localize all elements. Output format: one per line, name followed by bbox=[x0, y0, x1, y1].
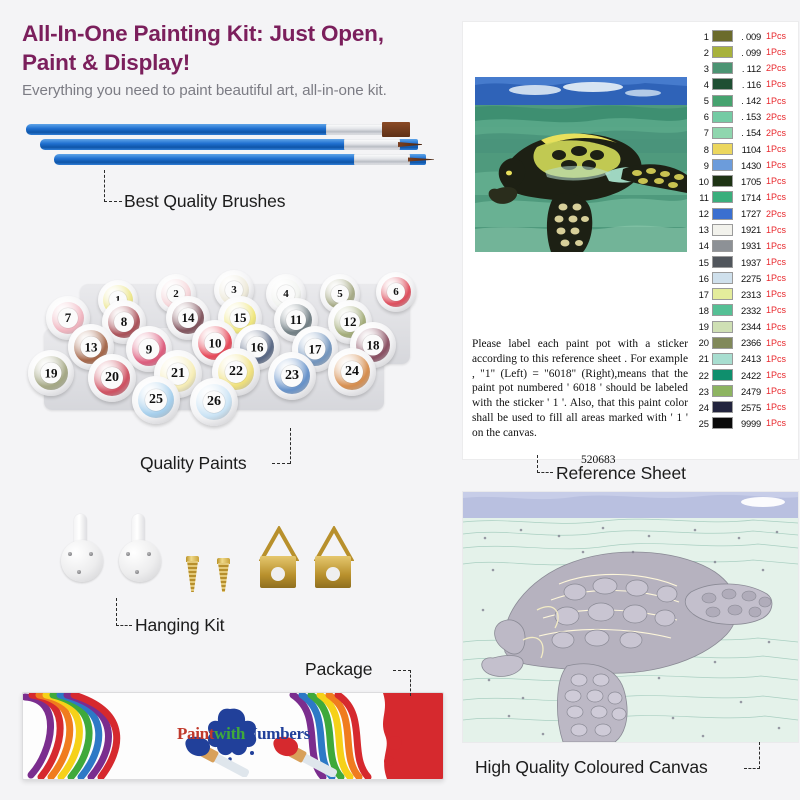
brushes-callout-leader-vertical bbox=[104, 170, 105, 202]
swatch-color-chip bbox=[712, 321, 733, 333]
color-swatch-row: 1017051Pcs bbox=[694, 173, 794, 189]
swatch-color-chip bbox=[712, 353, 733, 365]
brand-word-numbers: Numbers bbox=[245, 724, 310, 744]
color-swatch-row: 914301Pcs bbox=[694, 157, 794, 173]
swatch-code: 1921 bbox=[736, 224, 761, 235]
paint-pot: 24 bbox=[328, 348, 376, 396]
swatch-quantity: 1Pcs bbox=[766, 176, 786, 186]
hanging-callout-leader-horizontal bbox=[116, 625, 132, 626]
color-swatch-row: 1419311Pcs bbox=[694, 238, 794, 254]
brush-bristles-flat bbox=[382, 122, 410, 137]
swatch-code: 1104 bbox=[736, 144, 761, 155]
paint-pot-number: 26 bbox=[203, 391, 225, 413]
swatch-color-chip bbox=[712, 417, 733, 429]
paint-pot-number: 20 bbox=[101, 367, 123, 389]
paint-pot-number: 8 bbox=[114, 312, 134, 332]
swatch-quantity: 1Pcs bbox=[766, 144, 786, 154]
hook-disc bbox=[61, 540, 103, 582]
paints-callout-leader-vertical bbox=[290, 428, 291, 464]
swatch-quantity: 1Pcs bbox=[766, 47, 786, 57]
swatch-code: 1937 bbox=[736, 257, 761, 268]
paint-pot-number: 25 bbox=[145, 389, 167, 411]
swatch-code: . 153 bbox=[736, 111, 761, 122]
swatch-color-chip bbox=[712, 208, 733, 220]
swatch-code: 2413 bbox=[736, 353, 761, 364]
swatch-index: 14 bbox=[694, 240, 709, 251]
swatch-index: 25 bbox=[694, 418, 709, 429]
package-callout-leader-horizontal bbox=[393, 670, 411, 671]
swatch-color-chip bbox=[712, 337, 733, 349]
swatch-quantity: 1Pcs bbox=[766, 257, 786, 267]
swatch-color-chip bbox=[712, 224, 733, 236]
callout-hanging-kit: Hanging Kit bbox=[135, 615, 224, 636]
swatch-code: . 116 bbox=[736, 79, 761, 90]
swatch-index: 16 bbox=[694, 273, 709, 284]
swatch-color-chip bbox=[712, 143, 733, 155]
swatch-color-chip bbox=[712, 369, 733, 381]
color-swatch-row: 1519371Pcs bbox=[694, 254, 794, 270]
swatch-index: 24 bbox=[694, 402, 709, 413]
mounting-screw bbox=[186, 556, 199, 592]
brushes-group bbox=[18, 112, 448, 174]
coloured-canvas-card bbox=[463, 492, 798, 742]
d-ring-screw-hole bbox=[326, 567, 340, 581]
swatch-code: 1705 bbox=[736, 176, 761, 187]
swatch-index: 13 bbox=[694, 224, 709, 235]
callout-high-quality-canvas: High Quality Coloured Canvas bbox=[475, 757, 708, 778]
title-line-1: All-In-One Painting Kit: Just Open, bbox=[22, 21, 384, 46]
brushes-callout-leader-horizontal bbox=[104, 201, 122, 202]
swatch-index: 17 bbox=[694, 289, 709, 300]
swatch-code: . 112 bbox=[736, 63, 761, 74]
color-swatch-row: 1923441Pcs bbox=[694, 319, 794, 335]
color-swatch-row: 1823321Pcs bbox=[694, 302, 794, 318]
swatch-quantity: 1Pcs bbox=[766, 192, 786, 202]
swatch-color-chip bbox=[712, 127, 733, 139]
swatch-quantity: 1Pcs bbox=[766, 225, 786, 235]
reference-painting-image bbox=[475, 77, 687, 252]
swatch-quantity: 1Pcs bbox=[766, 338, 786, 348]
package-box: PaintwithNumbers bbox=[22, 692, 442, 778]
hook-nail-hole bbox=[89, 552, 93, 556]
wall-hook bbox=[61, 514, 103, 586]
swatch-color-chip bbox=[712, 385, 733, 397]
hook-disc bbox=[119, 540, 161, 582]
hanging-kit-group bbox=[55, 508, 355, 598]
sea-turtle-reference-art bbox=[475, 77, 687, 252]
brush-ferrule bbox=[326, 124, 384, 135]
paint-pot-number: 23 bbox=[281, 365, 303, 387]
swatch-code: 2313 bbox=[736, 289, 761, 300]
swatch-index: 22 bbox=[694, 370, 709, 381]
paint-brush-flat bbox=[26, 124, 398, 135]
page-subtitle: Everything you need to paint beautiful a… bbox=[22, 82, 472, 100]
swatch-quantity: 1Pcs bbox=[766, 289, 786, 299]
paint-pot-number: 10 bbox=[205, 333, 226, 354]
screw-shaft bbox=[187, 561, 198, 592]
swatch-code: 1430 bbox=[736, 160, 761, 171]
color-swatch-row: 3. 1122Pcs bbox=[694, 60, 794, 76]
swatch-quantity: 1Pcs bbox=[766, 273, 786, 283]
header-block: All-In-One Painting Kit: Just Open, Pain… bbox=[22, 20, 472, 100]
wall-hook bbox=[119, 514, 161, 586]
swatch-index: 11 bbox=[694, 192, 709, 203]
swatch-color-chip bbox=[712, 304, 733, 316]
d-ring-hanger bbox=[313, 526, 353, 590]
swatch-color-chip bbox=[712, 256, 733, 268]
hook-nail-hole bbox=[135, 570, 139, 574]
swatch-code: 2344 bbox=[736, 321, 761, 332]
hanging-callout-leader-vertical bbox=[116, 598, 117, 626]
swatch-code: . 142 bbox=[736, 95, 761, 106]
swatch-quantity: 2Pcs bbox=[766, 112, 786, 122]
swatch-index: 7 bbox=[694, 127, 709, 138]
paint-pot-number: 22 bbox=[225, 361, 247, 383]
hook-nail-hole bbox=[147, 552, 151, 556]
color-swatch-row: 5. 1421Pcs bbox=[694, 93, 794, 109]
color-swatch-row: 2425751Pcs bbox=[694, 399, 794, 415]
swatch-code: 1931 bbox=[736, 240, 761, 251]
color-swatch-row: 4. 1161Pcs bbox=[694, 76, 794, 92]
swatch-code: 1727 bbox=[736, 208, 761, 219]
paint-pot: 20 bbox=[88, 354, 136, 402]
swatch-quantity: 1Pcs bbox=[766, 241, 786, 251]
swatch-index: 19 bbox=[694, 321, 709, 332]
swatch-index: 21 bbox=[694, 353, 709, 364]
swatch-code: 2422 bbox=[736, 370, 761, 381]
paint-pot: 25 bbox=[132, 376, 180, 424]
swatch-quantity: 1Pcs bbox=[766, 402, 786, 412]
swatch-code: 2332 bbox=[736, 305, 761, 316]
color-swatch-row: 7. 1542Pcs bbox=[694, 125, 794, 141]
swatch-index: 4 bbox=[694, 79, 709, 90]
swatch-quantity: 1Pcs bbox=[766, 305, 786, 315]
paint-pot: 19 bbox=[28, 350, 74, 396]
swatch-index: 9 bbox=[694, 160, 709, 171]
swatch-quantity: 2Pcs bbox=[766, 128, 786, 138]
swatch-color-chip bbox=[712, 30, 733, 42]
d-ring-screw-hole bbox=[271, 567, 285, 581]
swatch-quantity: 1Pcs bbox=[766, 418, 786, 428]
swatch-index: 1 bbox=[694, 31, 709, 42]
swatch-quantity: 1Pcs bbox=[766, 322, 786, 332]
color-swatch-row: 1622751Pcs bbox=[694, 270, 794, 286]
d-ring-hanger bbox=[258, 526, 298, 590]
callout-reference-sheet: Reference Sheet bbox=[556, 463, 686, 484]
callout-best-quality-brushes: Best Quality Brushes bbox=[124, 191, 285, 212]
color-swatch-row: 2324791Pcs bbox=[694, 383, 794, 399]
brand-word-with: with bbox=[214, 724, 245, 744]
color-swatch-row: 2124131Pcs bbox=[694, 351, 794, 367]
swatch-quantity: 1Pcs bbox=[766, 354, 786, 364]
brand-word-paint: Paint bbox=[177, 724, 214, 744]
color-swatch-row: 2. 0991Pcs bbox=[694, 44, 794, 60]
hook-nail-hole bbox=[77, 570, 81, 574]
brush-ferrule bbox=[354, 154, 410, 165]
reference-callout-leader-vertical bbox=[537, 455, 538, 473]
color-swatch-row: 1117141Pcs bbox=[694, 189, 794, 205]
swatch-index: 12 bbox=[694, 208, 709, 219]
color-swatch-row: 2023661Pcs bbox=[694, 335, 794, 351]
swatch-code: 2575 bbox=[736, 402, 761, 413]
swatch-color-chip bbox=[712, 111, 733, 123]
swatch-quantity: 1Pcs bbox=[766, 386, 786, 396]
swatch-quantity: 2Pcs bbox=[766, 63, 786, 73]
reference-sheet-card: Please label each paint pot with a stick… bbox=[463, 22, 798, 459]
swatch-code: 1714 bbox=[736, 192, 761, 203]
swatch-index: 3 bbox=[694, 63, 709, 74]
swatch-color-chip bbox=[712, 191, 733, 203]
paint-pot: 23 bbox=[268, 352, 316, 400]
swatch-index: 2 bbox=[694, 47, 709, 58]
swatch-index: 20 bbox=[694, 337, 709, 348]
swatch-code: 2366 bbox=[736, 337, 761, 348]
page-title: All-In-One Painting Kit: Just Open, Pain… bbox=[22, 20, 472, 78]
swatch-color-chip bbox=[712, 175, 733, 187]
swatch-color-chip bbox=[712, 62, 733, 74]
swatch-color-chip bbox=[712, 46, 733, 58]
color-swatch-row: 811041Pcs bbox=[694, 141, 794, 157]
paint-pots-group: 1234567814151112139101617181920212223242… bbox=[6, 258, 446, 443]
callout-quality-paints: Quality Paints bbox=[140, 453, 247, 474]
paint-pot-number: 7 bbox=[58, 308, 78, 328]
swatch-quantity: 1Pcs bbox=[766, 79, 786, 89]
paint-pot-number: 11 bbox=[286, 310, 306, 330]
paints-callout-leader-horizontal bbox=[272, 463, 290, 464]
swatch-index: 5 bbox=[694, 95, 709, 106]
paint-pot-number: 14 bbox=[178, 308, 198, 328]
swatch-code: . 009 bbox=[736, 31, 761, 42]
color-swatch-row: 1319211Pcs bbox=[694, 222, 794, 238]
paint-brush-liner bbox=[54, 154, 426, 165]
swatch-quantity: 1Pcs bbox=[766, 370, 786, 380]
callout-package: Package bbox=[305, 659, 372, 680]
paint-pot: 6 bbox=[376, 272, 416, 312]
infographic-root: All-In-One Painting Kit: Just Open, Pain… bbox=[0, 0, 800, 800]
swatch-index: 8 bbox=[694, 144, 709, 155]
swatch-quantity: 1Pcs bbox=[766, 31, 786, 41]
package-callout-leader-vertical bbox=[410, 670, 411, 696]
color-swatch-list: 1. 0091Pcs2. 0991Pcs3. 1122Pcs4. 1161Pcs… bbox=[694, 28, 794, 432]
color-swatch-row: 1217272Pcs bbox=[694, 206, 794, 222]
swatch-code: . 099 bbox=[736, 47, 761, 58]
paint-pot-number: 19 bbox=[41, 363, 62, 384]
color-swatch-row: 2599991Pcs bbox=[694, 415, 794, 431]
paint-brush-round bbox=[40, 139, 418, 150]
swatch-code: 2479 bbox=[736, 386, 761, 397]
screw-shaft bbox=[218, 563, 229, 592]
swatch-quantity: 1Pcs bbox=[766, 160, 786, 170]
paint-pot-number: 24 bbox=[341, 361, 363, 383]
hook-nail-hole bbox=[126, 552, 130, 556]
swatch-color-chip bbox=[712, 240, 733, 252]
swatch-index: 15 bbox=[694, 257, 709, 268]
numbered-canvas-art bbox=[463, 492, 798, 742]
swatch-color-chip bbox=[712, 78, 733, 90]
swatch-index: 6 bbox=[694, 111, 709, 122]
color-swatch-row: 2224221Pcs bbox=[694, 367, 794, 383]
paint-pot-number: 9 bbox=[139, 339, 160, 360]
title-line-2: Paint & Display! bbox=[22, 50, 190, 75]
swatch-index: 23 bbox=[694, 386, 709, 397]
canvas-callout-leader-vertical bbox=[759, 742, 760, 769]
color-swatch-row: 1723131Pcs bbox=[694, 286, 794, 302]
reference-callout-leader-horizontal bbox=[537, 472, 553, 473]
paint-pot-number: 13 bbox=[81, 337, 102, 358]
reference-instructions: Please label each paint pot with a stick… bbox=[472, 337, 688, 441]
swatch-quantity: 2Pcs bbox=[766, 209, 786, 219]
color-swatch-row: 6. 1532Pcs bbox=[694, 109, 794, 125]
brush-ferrule bbox=[344, 139, 400, 150]
paint-pot: 26 bbox=[190, 378, 238, 426]
mounting-screw bbox=[217, 558, 230, 592]
paint-pot-number: 17 bbox=[305, 339, 326, 360]
hook-nail-hole bbox=[68, 552, 72, 556]
paint-pot-number: 6 bbox=[387, 283, 405, 301]
swatch-color-chip bbox=[712, 288, 733, 300]
color-swatch-row: 1. 0091Pcs bbox=[694, 28, 794, 44]
package-box-face: PaintwithNumbers bbox=[22, 692, 444, 780]
swatch-index: 18 bbox=[694, 305, 709, 316]
canvas-callout-leader-horizontal bbox=[744, 768, 760, 769]
swatch-color-chip bbox=[712, 272, 733, 284]
swatch-color-chip bbox=[712, 401, 733, 413]
swatch-quantity: 1Pcs bbox=[766, 96, 786, 106]
swatch-color-chip bbox=[712, 95, 733, 107]
swatch-code: . 154 bbox=[736, 127, 761, 138]
swatch-code: 9999 bbox=[736, 418, 761, 429]
swatch-code: 2275 bbox=[736, 273, 761, 284]
swatch-index: 10 bbox=[694, 176, 709, 187]
swatch-color-chip bbox=[712, 159, 733, 171]
